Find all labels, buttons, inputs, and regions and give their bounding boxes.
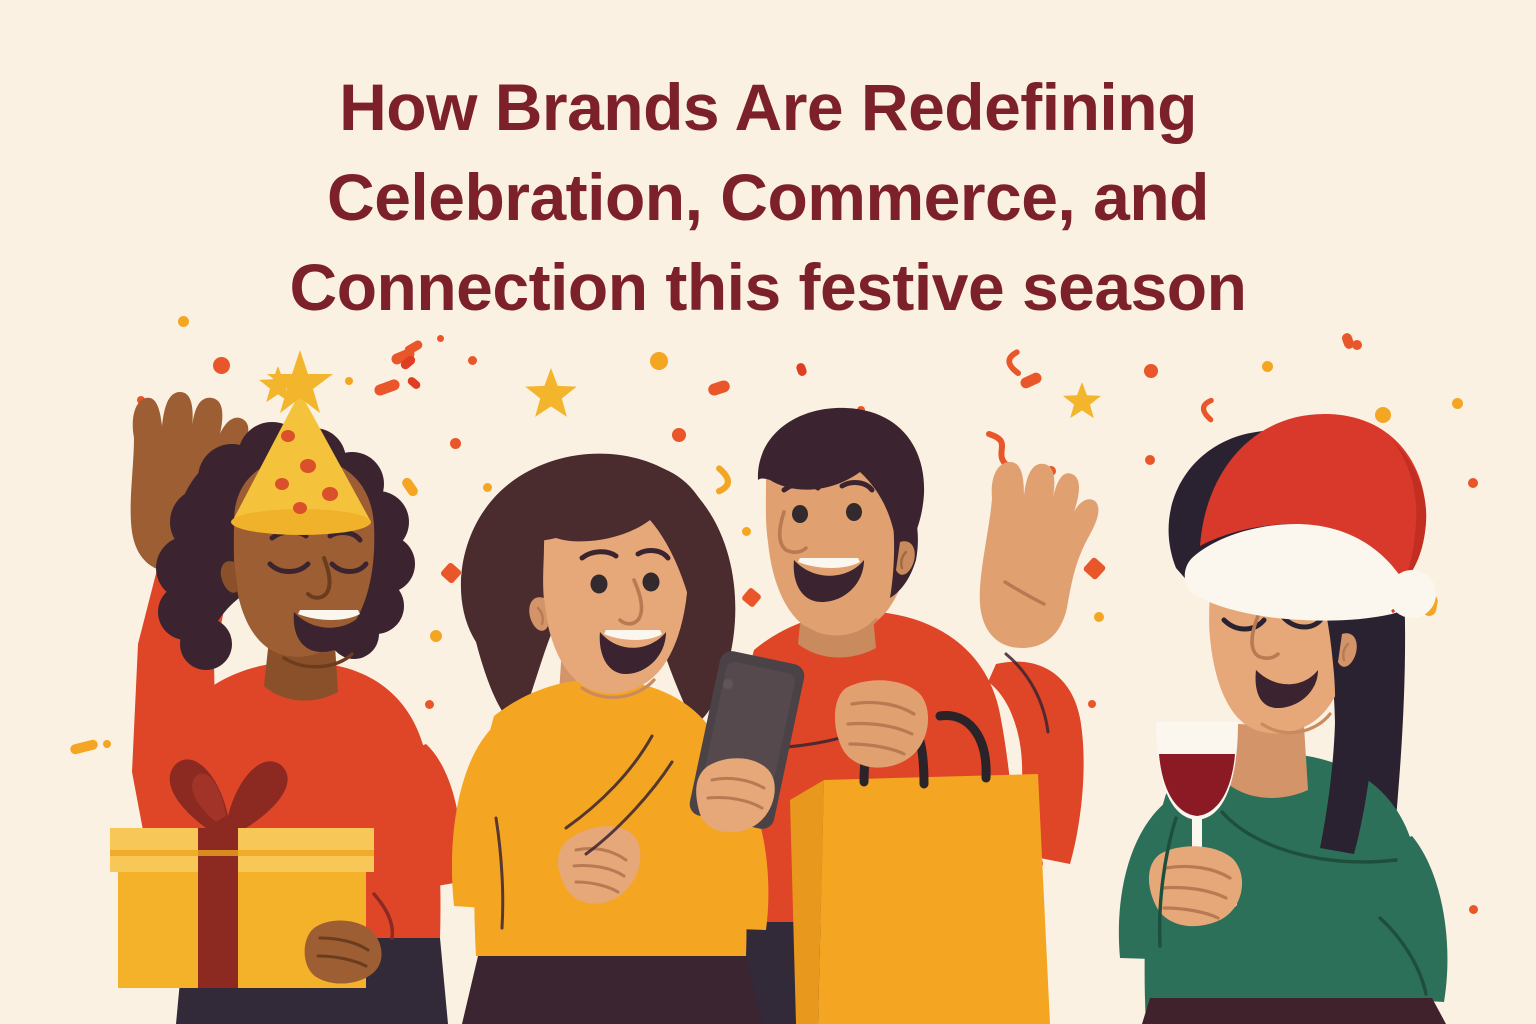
- page-title: How Brands Are Redefining Celebration, C…: [0, 62, 1536, 332]
- person-party-hat-with-gift: [56, 372, 486, 1024]
- confetti-dot: [178, 316, 189, 327]
- festive-poster: How Brands Are Redefining Celebration, C…: [0, 0, 1536, 1024]
- title-line-3: Connection this festive season: [0, 242, 1536, 332]
- confetti-curve: [997, 347, 1028, 378]
- title-line-1: How Brands Are Redefining: [0, 62, 1536, 152]
- confetti-star-icon: [524, 368, 578, 422]
- confetti-dot: [1262, 361, 1273, 372]
- confetti-pill: [1019, 371, 1044, 390]
- confetti-pill: [707, 379, 732, 397]
- title-line-2: Celebration, Commerce, and: [0, 152, 1536, 242]
- confetti-dot: [468, 356, 477, 365]
- person-santa-hat-with-wine-glass: [1080, 398, 1500, 1024]
- confetti-dot: [437, 335, 444, 342]
- confetti-dot: [650, 352, 668, 370]
- confetti-pill: [795, 362, 808, 377]
- person-yellow-sweater-gesturing: [436, 436, 786, 1024]
- confetti-dot: [1144, 364, 1158, 378]
